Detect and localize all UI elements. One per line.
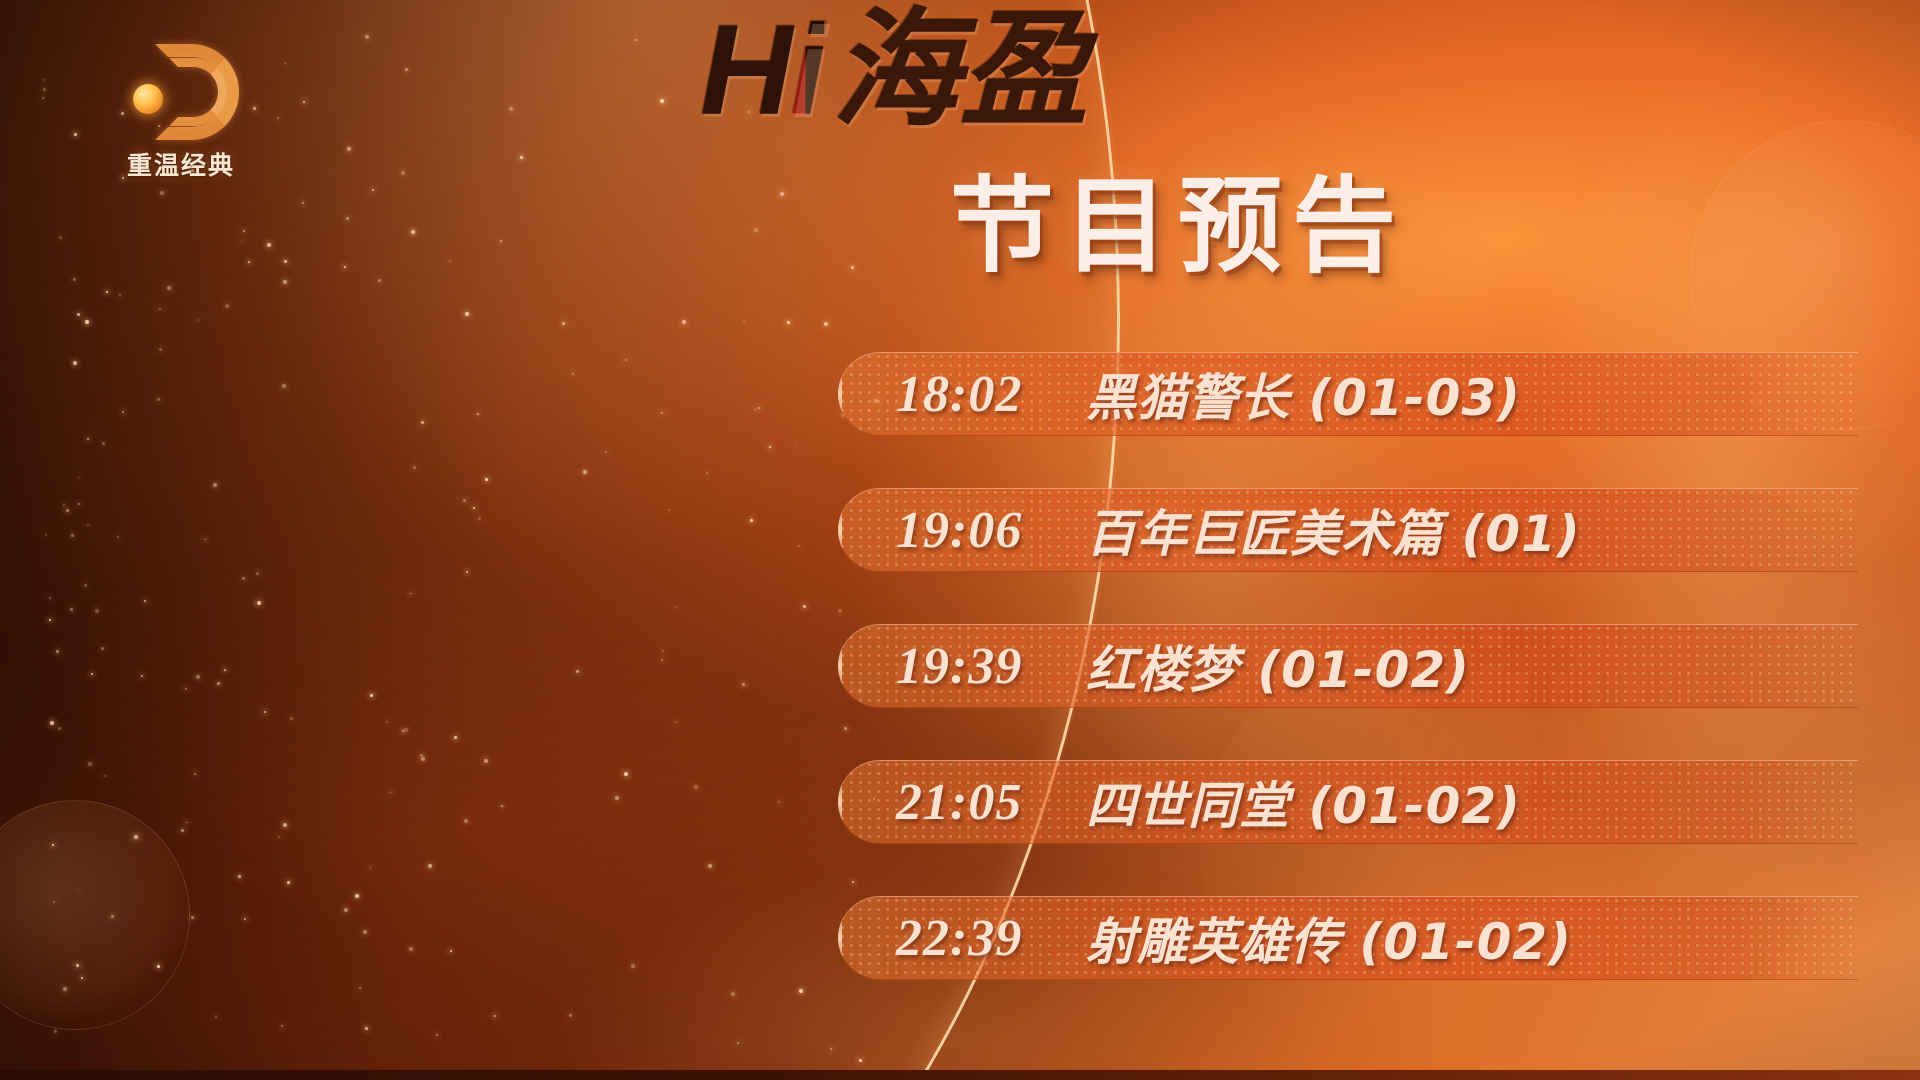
- schedule-row[interactable]: 19:06百年巨匠美术篇 (01): [838, 488, 1858, 572]
- schedule-row[interactable]: 22:39射雕英雄传 (01-02): [838, 896, 1858, 980]
- schedule-time: 18:02: [896, 365, 1086, 424]
- schedule-program-title: 四世同堂 (01-02): [1086, 766, 1521, 838]
- title-letter-h: H: [700, 0, 790, 142]
- logo-sphere-icon: [133, 84, 163, 114]
- schedule-list: 18:02黑猫警长 (01-03)19:06百年巨匠美术篇 (01)19:39红…: [838, 352, 1858, 1032]
- schedule-program-title: 红楼梦 (01-02): [1086, 630, 1470, 702]
- channel-arc-logo-icon: [121, 44, 241, 140]
- title-chinese: 海盈: [832, 0, 1088, 142]
- schedule-program-title: 射雕英雄传 (01-02): [1086, 902, 1572, 974]
- channel-logo: 重温经典: [86, 44, 276, 184]
- schedule-time: 22:39: [896, 909, 1086, 968]
- channel-logo-caption: 重温经典: [86, 146, 276, 182]
- schedule-row[interactable]: 18:02黑猫警长 (01-03): [838, 352, 1858, 436]
- schedule-time: 19:06: [896, 501, 1086, 560]
- schedule-program-title: 百年巨匠美术篇 (01): [1086, 494, 1581, 566]
- schedule-row[interactable]: 21:05四世同堂 (01-02): [838, 760, 1858, 844]
- title-letter-i: i: [790, 0, 824, 142]
- broadcast-schedule-screen: 重温经典 Hi海盈 节目预告 18:02黑猫警长 (01-03)19:06百年巨…: [0, 0, 1920, 1080]
- schedule-row[interactable]: 19:39红楼梦 (01-02): [838, 624, 1858, 708]
- bottom-bar: [0, 1070, 1920, 1080]
- headline-block: Hi海盈 节目预告: [700, 6, 1760, 292]
- schedule-program-title: 黑猫警长 (01-03): [1086, 358, 1521, 430]
- page-subtitle: 节目预告: [700, 141, 1760, 292]
- schedule-time: 21:05: [896, 773, 1086, 832]
- page-title: Hi海盈: [700, 6, 1760, 137]
- schedule-time: 19:39: [896, 637, 1086, 696]
